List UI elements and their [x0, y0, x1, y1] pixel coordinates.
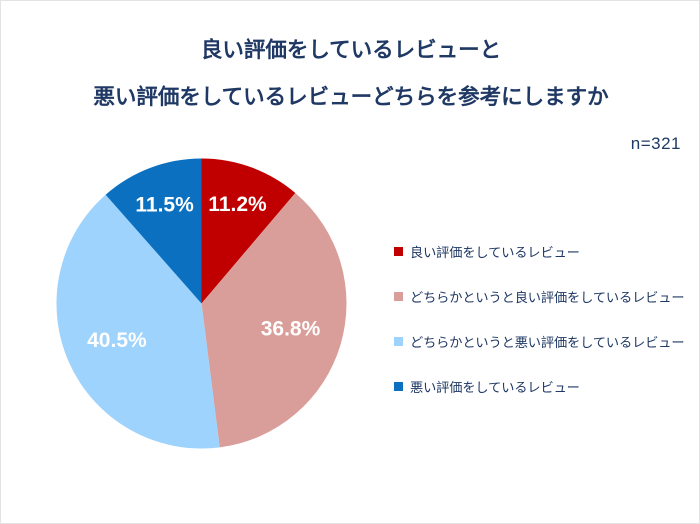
chart-canvas: 良い評価をしているレビューと 悪い評価をしているレビューどちらを参考にしますか …	[0, 0, 700, 524]
legend-item-2[interactable]: どちらかというと悪い評価をしているレビュー	[394, 319, 694, 364]
legend-item-label: 悪い評価をしているレビュー	[410, 377, 580, 396]
legend-color-swatch-icon	[394, 247, 403, 256]
pie-chart: 11.2%36.8%40.5%11.5%	[56, 158, 347, 449]
legend-item-label: どちらかというと良い評価をしているレビュー	[410, 287, 684, 306]
legend-color-swatch-icon	[394, 292, 403, 301]
legend-item-0[interactable]: 良い評価をしているレビュー	[394, 229, 694, 274]
legend-item-3[interactable]: 悪い評価をしているレビュー	[394, 364, 694, 409]
legend-item-label: 良い評価をしているレビュー	[410, 242, 580, 261]
legend-color-swatch-icon	[394, 337, 403, 346]
pie-slice-value-label: 11.2%	[208, 193, 267, 216]
legend-color-swatch-icon	[394, 382, 403, 391]
chart-title-line-1: 良い評価をしているレビューと	[1, 27, 700, 74]
legend-item-label: どちらかというと悪い評価をしているレビュー	[410, 332, 684, 351]
chart-title-line-2: 悪い評価をしているレビューどちらを参考にしますか	[1, 74, 700, 121]
pie-slice-value-label: 40.5%	[87, 329, 147, 352]
chart-title: 良い評価をしているレビューと 悪い評価をしているレビューどちらを参考にしますか	[1, 27, 700, 121]
pie-chart-svg: 11.2%36.8%40.5%11.5%	[56, 158, 347, 449]
pie-slice-value-label: 11.5%	[135, 193, 194, 216]
chart-legend: 良い評価をしているレビュー どちらかというと良い評価をしているレビュー どちらか…	[394, 229, 694, 409]
sample-size-annotation: n=321	[521, 134, 681, 154]
pie-slice-value-label: 36.8%	[261, 317, 321, 340]
legend-item-1[interactable]: どちらかというと良い評価をしているレビュー	[394, 274, 694, 319]
